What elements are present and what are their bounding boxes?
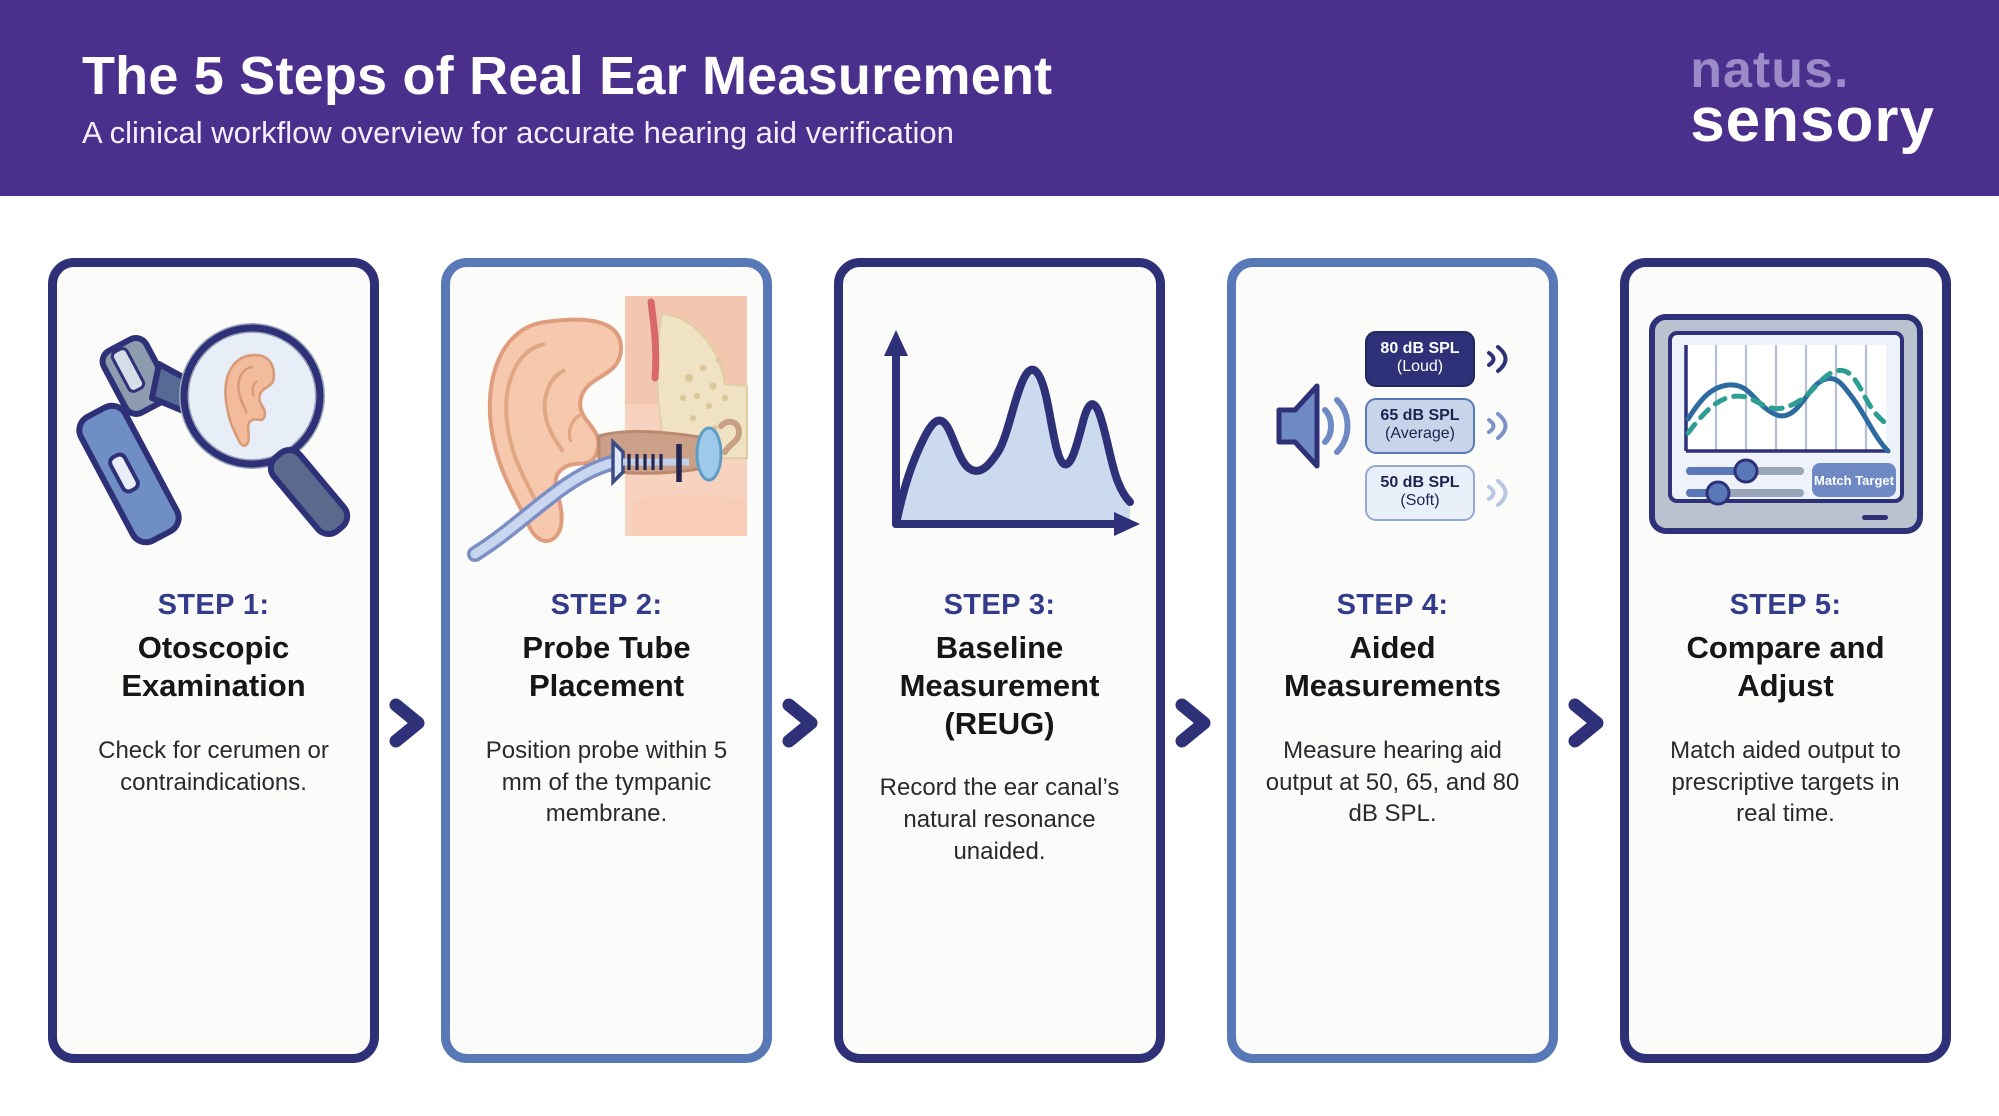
- chevron-right-icon: [1168, 695, 1224, 751]
- step-2-description: Position probe within 5 mm of the tympan…: [450, 735, 763, 831]
- spl-badge-65-value: 65 dB SPL: [1380, 407, 1459, 425]
- chevron-right-icon: [775, 695, 831, 751]
- spl-badge-65: 65 dB SPL (Average): [1365, 398, 1474, 454]
- sound-wave-icon: [1482, 339, 1512, 379]
- step-card-5[interactable]: Match Target STEP 5: Compare and Adjust …: [1620, 258, 1951, 1063]
- otoscope-magnifier-ear-icon: [57, 267, 370, 567]
- step-2-label: STEP 2:: [551, 589, 663, 622]
- step-5-description: Match aided output to prescriptive targe…: [1629, 735, 1942, 831]
- step-2-title: Probe Tube Placement: [450, 629, 763, 705]
- step-4-description: Measure hearing aid output at 50, 65, an…: [1236, 735, 1549, 831]
- spl-badge-row: 65 dB SPL (Average): [1365, 398, 1511, 454]
- speaker-spl-levels-icon: 80 dB SPL (Loud): [1236, 267, 1549, 567]
- page-subtitle: A clinical workflow overview for accurat…: [82, 117, 1052, 148]
- spl-badge-80-name: (Loud): [1380, 358, 1459, 376]
- spl-badge-80-value: 80 dB SPL: [1380, 340, 1459, 358]
- header-text-block: The 5 Steps of Real Ear Measurement A cl…: [82, 49, 1052, 148]
- step-card-1[interactable]: STEP 1: Otoscopic Examination Check for …: [48, 258, 379, 1063]
- brand-logo: natus. sensory: [1690, 48, 1941, 148]
- connector-arrow-3: [1165, 258, 1227, 1063]
- spl-badge-50: 50 dB SPL (Soft): [1365, 465, 1474, 521]
- spl-badge-65-name: (Average): [1380, 425, 1459, 443]
- page-header: The 5 Steps of Real Ear Measurement A cl…: [0, 0, 1999, 196]
- sound-wave-icon: [1482, 406, 1512, 446]
- step-3-title: Baseline Measurement (REUG): [843, 629, 1156, 742]
- spl-badge-row: 50 dB SPL (Soft): [1365, 465, 1511, 521]
- tablet-target-match-icon: Match Target: [1629, 267, 1942, 567]
- step-3-description: Record the ear canal’s natural resonance…: [843, 772, 1156, 868]
- page-title: The 5 Steps of Real Ear Measurement: [82, 49, 1052, 103]
- step-5-label: STEP 5:: [1730, 589, 1842, 622]
- step-card-2[interactable]: STEP 2: Probe Tube Placement Position pr…: [441, 258, 772, 1063]
- speaker-icon: [1273, 366, 1359, 486]
- spl-badge-list: 80 dB SPL (Loud): [1365, 331, 1511, 520]
- match-target-button-label: Match Target: [1814, 473, 1895, 488]
- step-card-3[interactable]: STEP 3: Baseline Measurement (REUG) Reco…: [834, 258, 1165, 1063]
- spl-badge-row: 80 dB SPL (Loud): [1365, 331, 1511, 387]
- connector-arrow-2: [772, 258, 834, 1063]
- spl-badge-50-value: 50 dB SPL: [1380, 474, 1459, 492]
- step-1-description: Check for cerumen or contraindications.: [57, 735, 370, 799]
- step-card-4[interactable]: 80 dB SPL (Loud): [1227, 258, 1558, 1063]
- step-1-label: STEP 1:: [158, 589, 270, 622]
- step-5-title: Compare and Adjust: [1629, 629, 1942, 705]
- spl-badge-50-name: (Soft): [1380, 492, 1459, 510]
- chevron-right-icon: [1561, 695, 1617, 751]
- step-4-label: STEP 4:: [1337, 589, 1449, 622]
- match-target-button: Match Target: [1812, 463, 1896, 497]
- infographic-page: The 5 Steps of Real Ear Measurement A cl…: [0, 0, 1999, 1116]
- reug-curve-chart-icon: [843, 267, 1156, 567]
- step-4-title: Aided Measurements: [1236, 629, 1549, 705]
- spl-badge-80: 80 dB SPL (Loud): [1365, 331, 1474, 387]
- connector-arrow-4: [1558, 258, 1620, 1063]
- step-1-title: Otoscopic Examination: [57, 629, 370, 705]
- ear-anatomy-probe-tube-icon: [450, 267, 763, 567]
- chevron-right-icon: [382, 695, 438, 751]
- steps-row: STEP 1: Otoscopic Examination Check for …: [0, 196, 1999, 1116]
- step-3-label: STEP 3:: [944, 589, 1056, 622]
- brand-logo-sensory: sensory: [1690, 94, 1935, 149]
- sound-wave-icon: [1482, 473, 1512, 513]
- connector-arrow-1: [379, 258, 441, 1063]
